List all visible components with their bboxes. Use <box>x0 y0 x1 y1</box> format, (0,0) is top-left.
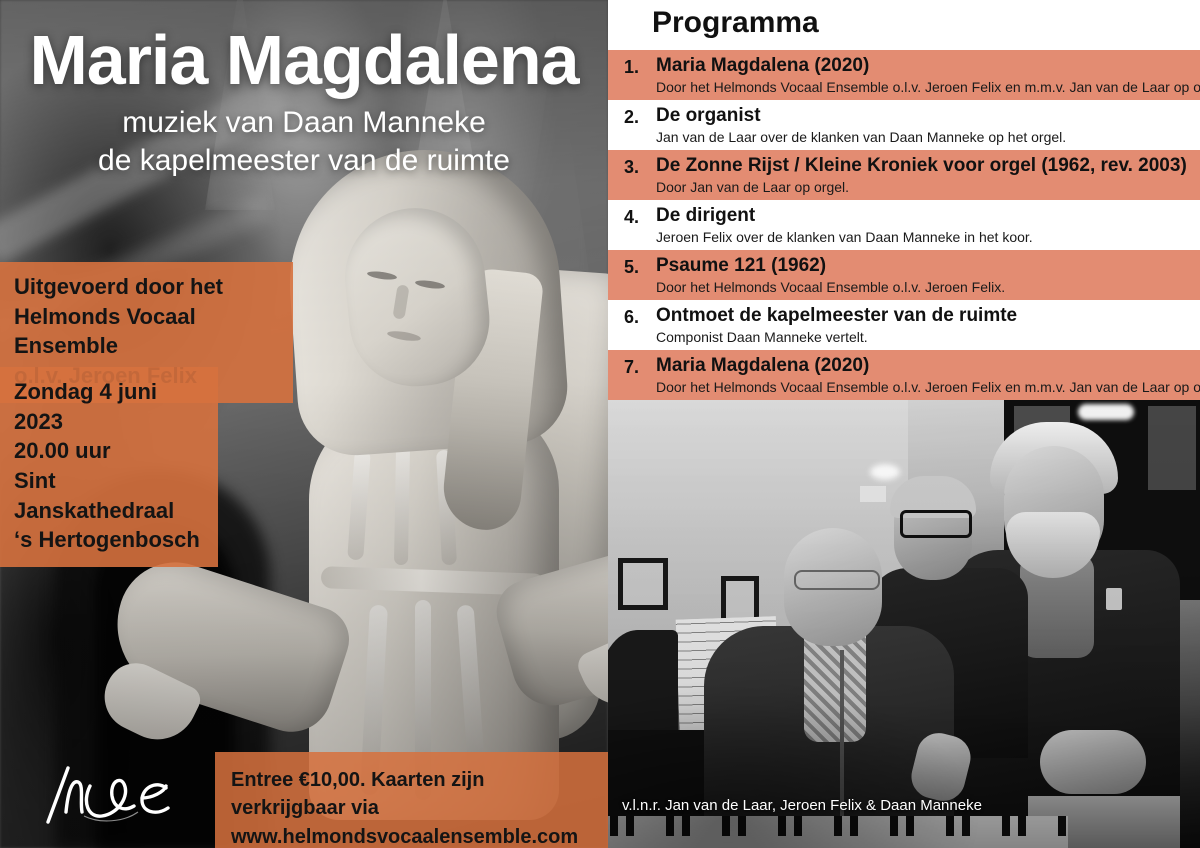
programme-item: 6. Ontmoet de kapelmeester van de ruimte… <box>608 300 1200 350</box>
right-panel: Programma 1. Maria Magdalena (2020) Door… <box>608 0 1200 848</box>
programme-item-title: De Zonne Rijst / Kleine Kroniek voor org… <box>656 155 1187 177</box>
programme-item: 3. De Zonne Rijst / Kleine Kroniek voor … <box>608 150 1200 200</box>
programme-item-number: 7. <box>624 357 654 378</box>
programme-item: 4. De dirigent Jeroen Felix over de klan… <box>608 200 1200 250</box>
programme-item-title: Maria Magdalena (2020) <box>656 355 869 377</box>
subtitle-line-2: de kapelmeester van de ruimte <box>0 142 608 180</box>
programme-item-title: De organist <box>656 105 761 127</box>
programme-item-title: Maria Magdalena (2020) <box>656 55 869 77</box>
hve-logo <box>38 762 183 826</box>
photo-caption: v.l.n.r. Jan van de Laar, Jeroen Felix &… <box>622 797 982 814</box>
programme-item-title: De dirigent <box>656 205 755 227</box>
programme-item-description: Door Jan van de Laar op orgel. <box>656 179 849 195</box>
programme-item-number: 2. <box>624 107 654 128</box>
programme-item-description: Componist Daan Manneke vertelt. <box>656 329 868 345</box>
left-panel: Maria Magdalena muziek van Daan Manneke … <box>0 0 608 848</box>
photo-tone-overlay <box>608 400 1200 848</box>
programme-item-description: Door het Helmonds Vocaal Ensemble o.l.v.… <box>656 79 1200 95</box>
programme-item-number: 1. <box>624 57 654 78</box>
programme-item: 7. Maria Magdalena (2020) Door het Helmo… <box>608 350 1200 400</box>
subtitle-line-1: muziek van Daan Manneke <box>0 104 608 142</box>
page-title: Maria Magdalena <box>0 24 608 98</box>
programme-item-number: 4. <box>624 207 654 228</box>
programme-item-description: Door het Helmonds Vocaal Ensemble o.l.v.… <box>656 379 1200 395</box>
date-venue-info-box: Zondag 4 juni 2023 20.00 uur Sint Janska… <box>0 367 218 567</box>
programme-item: 5. Psaume 121 (1962) Door het Helmonds V… <box>608 250 1200 300</box>
subtitle: muziek van Daan Manneke de kapelmeester … <box>0 104 608 181</box>
programme-item-number: 5. <box>624 257 654 278</box>
programme-item-description: Door het Helmonds Vocaal Ensemble o.l.v.… <box>656 279 1005 295</box>
programme-item-number: 3. <box>624 157 654 178</box>
programme-item: 1. Maria Magdalena (2020) Door het Helmo… <box>608 50 1200 100</box>
programme-item: 2. De organist Jan van de Laar over de k… <box>608 100 1200 150</box>
programme-heading: Programma <box>652 6 819 40</box>
programme-item-description: Jan van de Laar over de klanken van Daan… <box>656 129 1066 145</box>
concert-poster: Maria Magdalena muziek van Daan Manneke … <box>0 0 1200 848</box>
performers-photo: v.l.n.r. Jan van de Laar, Jeroen Felix &… <box>608 400 1200 848</box>
programme-item-number: 6. <box>624 307 654 328</box>
ticket-info-box: Entree €10,00. Kaarten zijn verkrijgbaar… <box>215 752 608 848</box>
programme-list: 1. Maria Magdalena (2020) Door het Helmo… <box>608 50 1200 400</box>
programme-item-title: Ontmoet de kapelmeester van de ruimte <box>656 305 1017 327</box>
programme-item-title: Psaume 121 (1962) <box>656 255 826 277</box>
programme-item-description: Jeroen Felix over de klanken van Daan Ma… <box>656 229 1033 245</box>
